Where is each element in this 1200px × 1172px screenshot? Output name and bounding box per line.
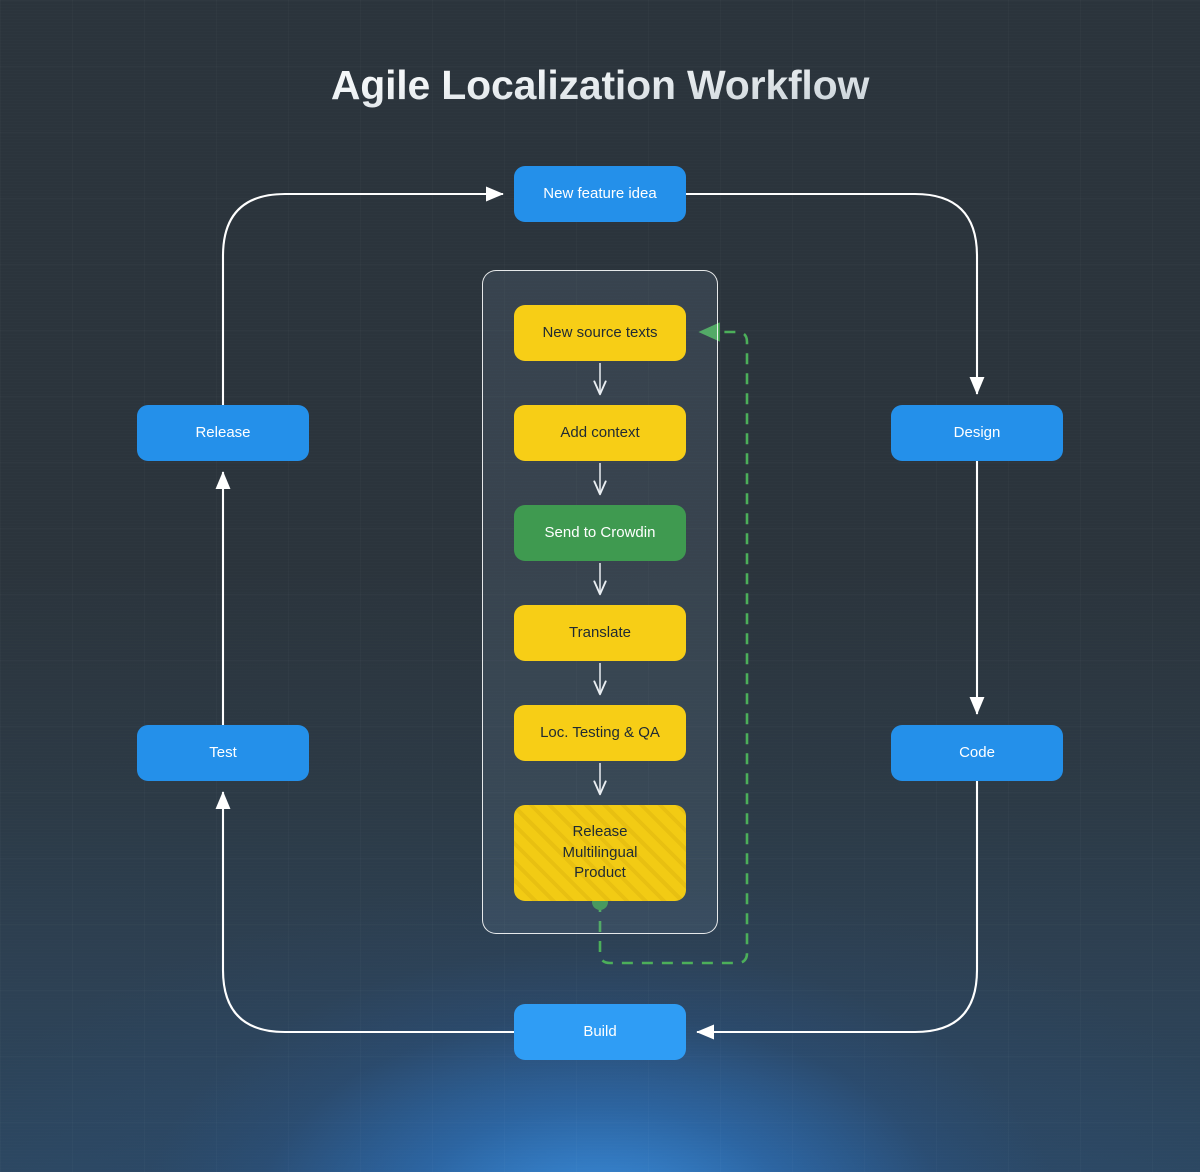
edge-new-feature-to-design — [686, 194, 977, 394]
node-release[interactable]: Release — [137, 405, 309, 461]
node-translate[interactable]: Translate — [514, 605, 686, 661]
node-label: Test — [209, 743, 237, 763]
node-code[interactable]: Code — [891, 725, 1063, 781]
node-new-source-texts[interactable]: New source texts — [514, 305, 686, 361]
node-label: Translate — [569, 623, 631, 643]
node-test[interactable]: Test — [137, 725, 309, 781]
node-label: Design — [954, 423, 1001, 443]
node-send-to-crowdin[interactable]: Send to Crowdin — [514, 505, 686, 561]
node-label-line-3: Product — [562, 863, 637, 884]
edge-code-to-build — [697, 781, 977, 1032]
node-new-feature-idea[interactable]: New feature idea — [514, 166, 686, 222]
edge-release-to-new-feature — [223, 194, 503, 405]
node-build[interactable]: Build — [514, 1004, 686, 1060]
node-label: New feature idea — [543, 184, 656, 204]
node-label: Release — [195, 423, 250, 443]
edge-build-to-test — [223, 792, 514, 1032]
node-design[interactable]: Design — [891, 405, 1063, 461]
diagram-canvas: Agile Localization Workflow — [0, 0, 1200, 1172]
node-label: Send to Crowdin — [545, 523, 656, 543]
node-label: Build — [583, 1022, 616, 1042]
node-label-line-1: Release — [562, 822, 637, 843]
node-release-multilingual-product[interactable]: Release Multilingual Product — [514, 805, 686, 901]
node-label: Add context — [560, 423, 639, 443]
node-loc-testing-qa[interactable]: Loc. Testing & QA — [514, 705, 686, 761]
node-label: New source texts — [542, 323, 657, 343]
node-label-multiline: Release Multilingual Product — [562, 822, 637, 884]
node-label: Loc. Testing & QA — [540, 723, 660, 743]
page-title: Agile Localization Workflow — [0, 62, 1200, 109]
node-add-context[interactable]: Add context — [514, 405, 686, 461]
node-label: Code — [959, 743, 995, 763]
node-label-line-2: Multilingual — [562, 843, 637, 864]
